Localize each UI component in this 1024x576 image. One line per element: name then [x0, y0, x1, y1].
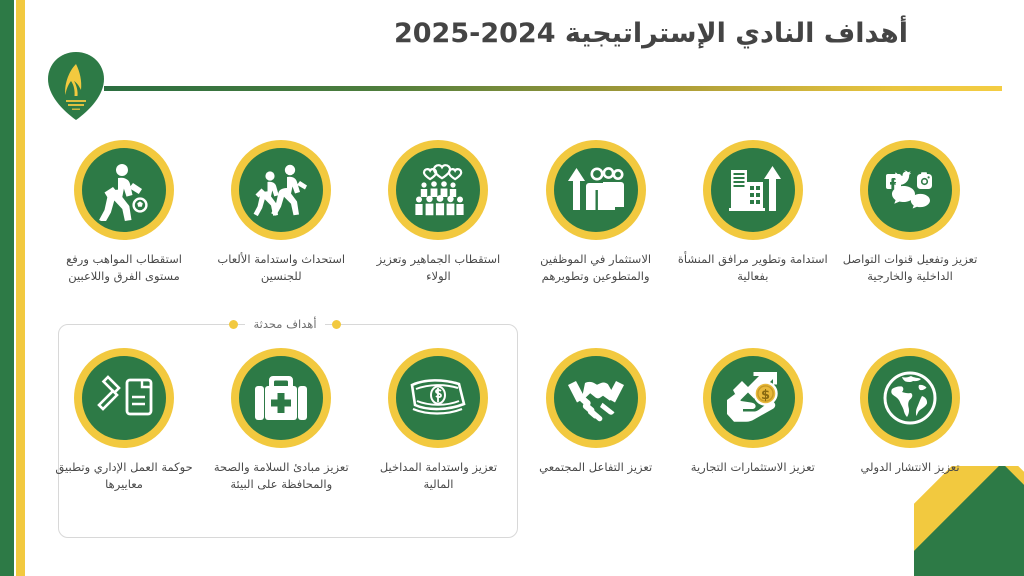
hand-coin-growth-icon: $ — [703, 348, 803, 448]
club-logo — [44, 50, 108, 122]
soccer-player-icon — [74, 140, 174, 240]
goal-label: استقطاب المواهب ورفع مستوى الفرق واللاعب… — [49, 251, 199, 284]
goals-row-bottom: تعزيز الانتشار الدولي $ تعزيز الاستثمارا… — [48, 348, 986, 492]
social-media-icon — [860, 140, 960, 240]
goal-item[interactable]: تعزيز واستدامة المداخيل المالية — [362, 348, 514, 492]
goal-item[interactable]: استقطاب المواهب ورفع مستوى الفرق واللاعب… — [48, 140, 200, 284]
updated-goals-chip: أهداف محدثة — [170, 313, 400, 335]
goal-item[interactable]: تعزيز مبادئ السلامة والصحة والمحافظة على… — [205, 348, 357, 492]
header-gradient-rule — [104, 86, 1002, 91]
left-green-bar — [0, 0, 14, 576]
goal-label: حوكمة العمل الإداري وتطبيق معاييرها — [49, 459, 199, 492]
runners-icon — [231, 140, 331, 240]
handshake-icon — [546, 348, 646, 448]
chip-line-left — [170, 324, 222, 325]
goal-label: تعزيز وتفعيل قنوات التواصل الداخلية والخ… — [835, 251, 985, 284]
building-growth-icon — [703, 140, 803, 240]
chip-dot-right — [332, 320, 341, 329]
goal-label: استقطاب الجماهير وتعزيز الولاء — [363, 251, 513, 284]
goal-label: الاستثمار في الموظفين والمتطوعين وتطويره… — [521, 251, 671, 284]
updated-goals-label: أهداف محدثة — [245, 317, 324, 331]
goal-label: تعزيز واستدامة المداخيل المالية — [363, 459, 513, 492]
goal-item[interactable]: الاستثمار في الموظفين والمتطوعين وتطويره… — [520, 140, 672, 284]
goal-item[interactable]: تعزيز الانتشار الدولي — [834, 348, 986, 492]
first-aid-kit-icon — [231, 348, 331, 448]
goal-item[interactable]: استقطاب الجماهير وتعزيز الولاء — [362, 140, 514, 284]
goal-label: تعزيز مبادئ السلامة والصحة والمحافظة على… — [206, 459, 356, 492]
goal-label: استحداث واستدامة الألعاب للجنسين — [206, 251, 356, 284]
crowd-hearts-icon — [388, 140, 488, 240]
goal-label: تعزيز الاستثمارات التجارية — [691, 459, 815, 476]
goal-label: تعزيز التفاعل المجتمعي — [539, 459, 652, 476]
goal-item[interactable]: تعزيز التفاعل المجتمعي — [520, 348, 672, 492]
chip-line-right — [348, 324, 400, 325]
slide-canvas: أهداف النادي الإستراتيجية 2024-2025 أهدا… — [0, 0, 1024, 576]
goals-row-top: تعزيز وتفعيل قنوات التواصل الداخلية والخ… — [48, 140, 986, 284]
globe-icon — [860, 348, 960, 448]
goal-item[interactable]: حوكمة العمل الإداري وتطبيق معاييرها — [48, 348, 200, 492]
page-title: أهداف النادي الإستراتيجية 2024-2025 — [300, 18, 1002, 49]
svg-text:$: $ — [761, 388, 770, 403]
goal-item[interactable]: استحداث واستدامة الألعاب للجنسين — [205, 140, 357, 284]
banknotes-icon — [388, 348, 488, 448]
goal-item[interactable]: تعزيز وتفعيل قنوات التواصل الداخلية والخ… — [834, 140, 986, 284]
goal-item[interactable]: $ تعزيز الاستثمارات التجارية — [677, 348, 829, 492]
team-growth-icon — [546, 140, 646, 240]
left-yellow-bar — [16, 0, 25, 576]
goal-item[interactable]: استدامة وتطوير مرافق المنشأة بفعالية — [677, 140, 829, 284]
goal-label: استدامة وتطوير مرافق المنشأة بفعالية — [678, 251, 828, 284]
goal-label: تعزيز الانتشار الدولي — [860, 459, 959, 476]
gavel-document-icon — [74, 348, 174, 448]
chip-dot-left — [229, 320, 238, 329]
